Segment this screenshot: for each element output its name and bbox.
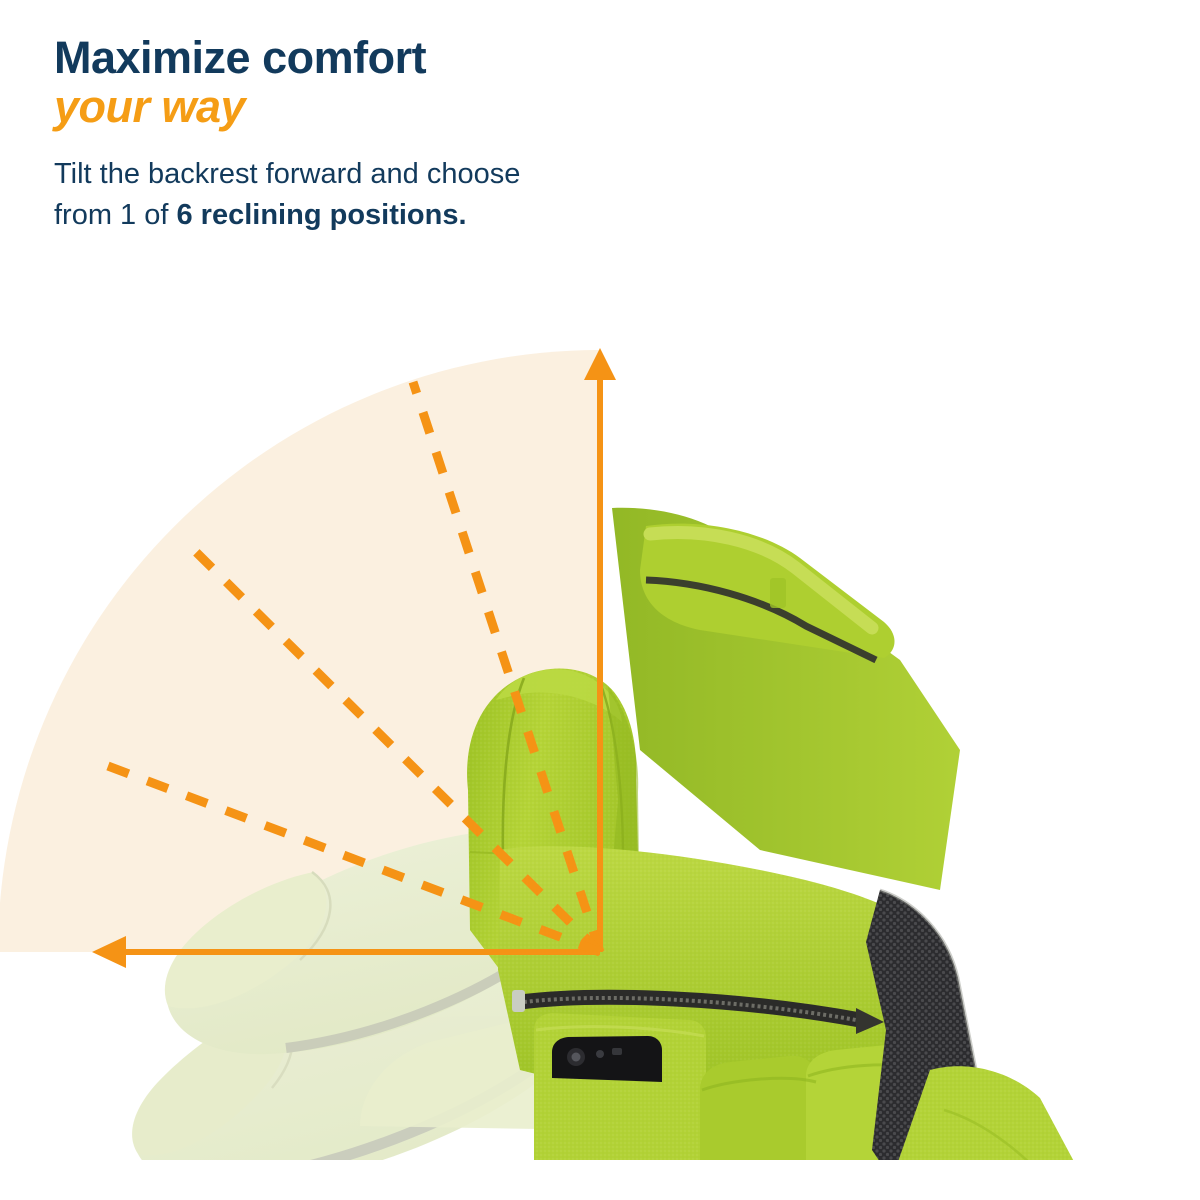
- smartphone-in-pocket: [552, 1036, 662, 1082]
- subheading-emphasis: 6 reclining positions.: [177, 199, 467, 231]
- headline-accent: your way: [54, 82, 794, 132]
- headline-primary: Maximize comfort: [54, 34, 794, 82]
- diagram-svg: ALPCOUR: [0, 330, 1200, 1160]
- headline-block: Maximize comfort your way Tilt the backr…: [54, 34, 794, 236]
- subheading: Tilt the backrest forward and choose fro…: [54, 154, 794, 236]
- recline-diagram-stage: ALPCOUR: [0, 330, 1200, 1160]
- subheading-line-2: from 1 of 6 reclining positions.: [54, 195, 794, 236]
- subheading-line-1: Tilt the backrest forward and choose: [54, 154, 794, 195]
- subheading-prefix: from 1 of: [54, 199, 177, 231]
- product-feature-graphic: Maximize comfort your way Tilt the backr…: [0, 0, 1200, 1200]
